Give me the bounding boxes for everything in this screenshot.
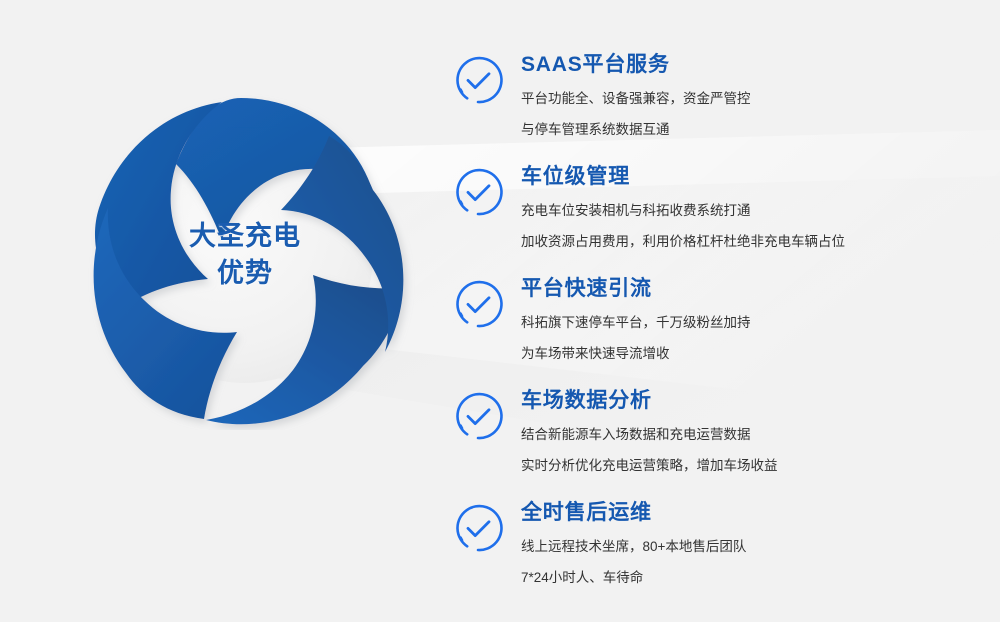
feature-desc-line-2: 与停车管理系统数据互通 [521,123,961,137]
feature-text: 车场数据分析 结合新能源车入场数据和充电运营数据 实时分析优化充电运营策略，增加… [521,380,961,472]
feature-item-parking-space-management: 车位级管理 充电车位安装相机与科拓收费系统打通 加收资源占用费用，利用价格杠杆杜… [446,156,966,268]
logo-block: 大圣充电 优势 [70,80,420,430]
feature-desc-line-2: 实时分析优化充电运营策略，增加车场收益 [521,459,961,473]
feature-title: 车位级管理 [521,166,961,187]
feature-desc-line-2: 7*24小时人、车待命 [521,571,961,585]
feature-item-saas-platform-service: SAAS平台服务 平台功能全、设备强兼容，资金严管控 与停车管理系统数据互通 [446,44,966,156]
feature-desc-line-1: 科拓旗下速停车平台，千万级粉丝加持 [521,316,961,330]
feature-desc-line-1: 线上远程技术坐席，80+本地售后团队 [521,540,961,554]
feature-title: SAAS平台服务 [521,54,961,75]
feature-text: 平台快速引流 科拓旗下速停车平台，千万级粉丝加持 为车场带来快速导流增收 [521,268,961,360]
feature-item-platform-traffic: 平台快速引流 科拓旗下速停车平台，千万级粉丝加持 为车场带来快速导流增收 [446,268,966,380]
feature-desc-line-1: 充电车位安装相机与科拓收费系统打通 [521,204,961,218]
feature-desc-line-1: 结合新能源车入场数据和充电运营数据 [521,428,961,442]
check-circle-icon [452,54,504,106]
feature-item-full-time-after-sales: 全时售后运维 线上远程技术坐席，80+本地售后团队 7*24小时人、车待命 [446,492,966,604]
feature-item-lot-data-analysis: 车场数据分析 结合新能源车入场数据和充电运营数据 实时分析优化充电运营策略，增加… [446,380,966,492]
feature-text: 全时售后运维 线上远程技术坐席，80+本地售后团队 7*24小时人、车待命 [521,492,961,584]
feature-desc-line-2: 为车场带来快速导流增收 [521,347,961,361]
feature-title: 平台快速引流 [521,278,961,299]
check-circle-icon [452,166,504,218]
feature-desc-line-2: 加收资源占用费用，利用价格杠杆杜绝非充电车辆占位 [521,235,961,249]
feature-text: 车位级管理 充电车位安装相机与科拓收费系统打通 加收资源占用费用，利用价格杠杆杜… [521,156,961,248]
check-circle-icon [452,278,504,330]
feature-text: SAAS平台服务 平台功能全、设备强兼容，资金严管控 与停车管理系统数据互通 [521,44,961,136]
feature-title: 车场数据分析 [521,390,961,411]
infographic-canvas: 大圣充电 优势 SAAS平台服务 平台功能全、设备强兼容，资金严管控 与停车管理… [0,0,1000,622]
feature-list: SAAS平台服务 平台功能全、设备强兼容，资金严管控 与停车管理系统数据互通 车… [446,44,966,604]
feature-desc-line-1: 平台功能全、设备强兼容，资金严管控 [521,92,961,106]
pinwheel-logo-icon [70,80,420,430]
feature-title: 全时售后运维 [521,502,961,523]
check-circle-icon [452,390,504,442]
check-circle-icon [452,502,504,554]
